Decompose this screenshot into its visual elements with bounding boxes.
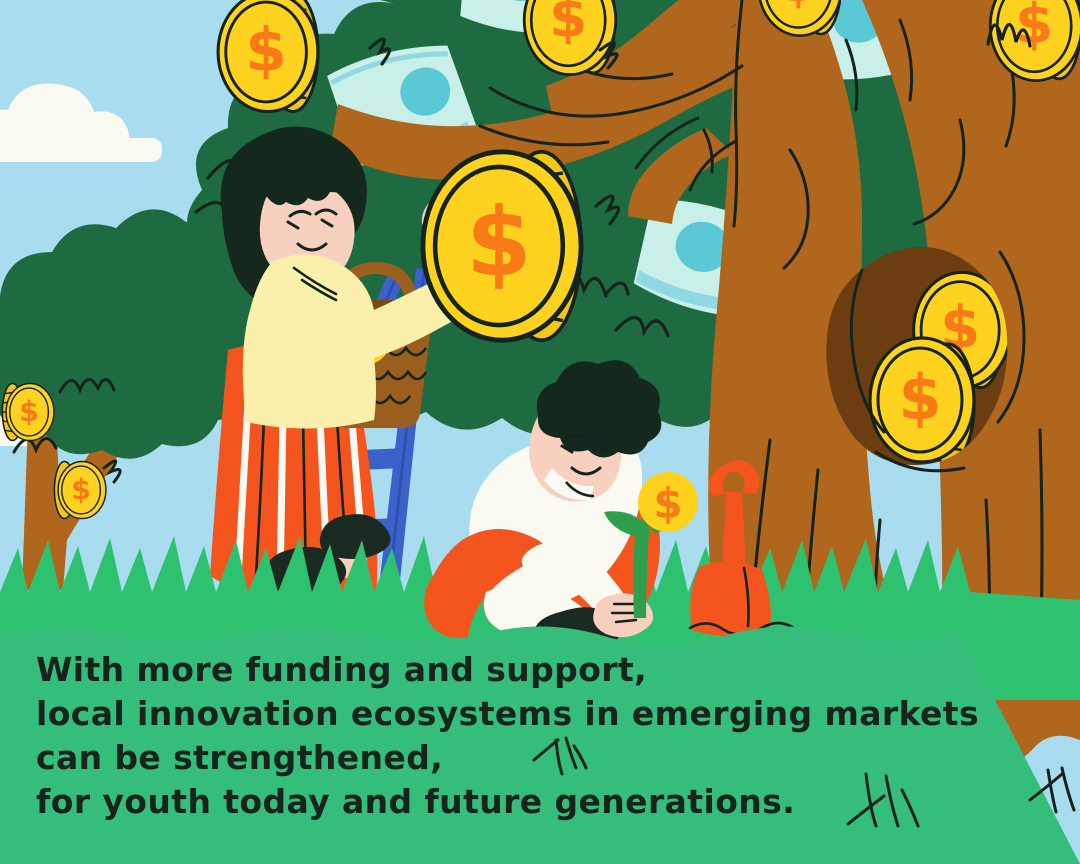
shovel-blade: [690, 562, 771, 637]
giant-gold-coin: [423, 152, 581, 340]
hollow-coin-lower: [870, 338, 974, 464]
illustration-canvas: $: [0, 0, 1080, 864]
canopy-coin-1: [218, 0, 318, 112]
flower-dollar-sign: $: [653, 479, 682, 528]
small-tree-coin-1: [2, 383, 54, 440]
money-tree-illustration: $: [0, 0, 1080, 864]
small-tree-coin-2: [54, 461, 106, 518]
green-caption-band: [0, 626, 1080, 864]
shovel-shaft: [722, 492, 746, 572]
